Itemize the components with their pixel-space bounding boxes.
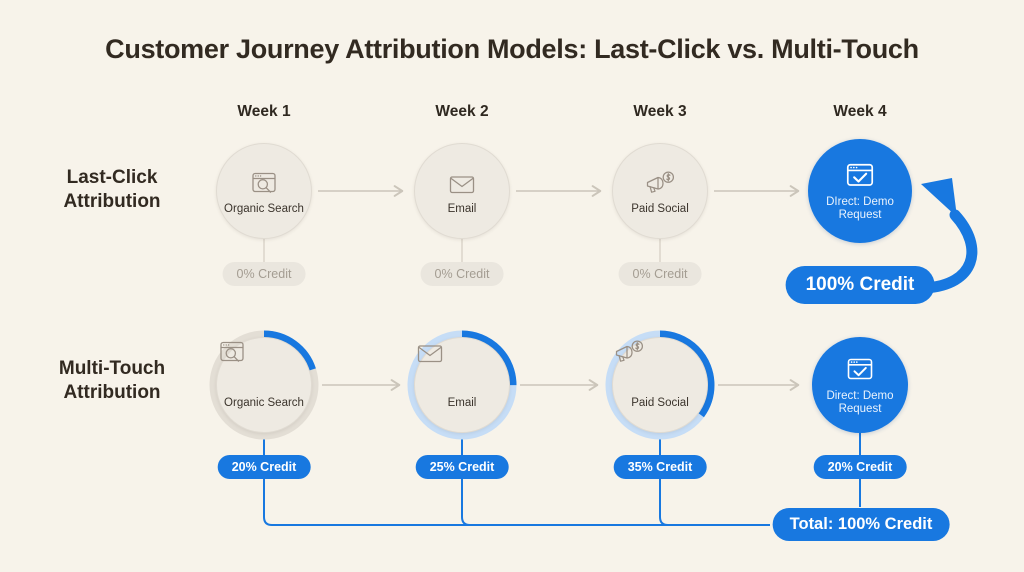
ring-multi-touch-email: Email — [407, 330, 517, 440]
ring-multi-touch-organic-search: Organic Search — [209, 330, 319, 440]
browser-check-icon — [843, 160, 877, 194]
browser-check-icon — [844, 354, 876, 388]
node-multi-touch-organic-search[interactable]: Organic Search — [216, 337, 312, 433]
credit-pill-multi-touch-week1: 20% Credit — [218, 455, 311, 479]
credit-pill-last-click-week3: 0% Credit — [619, 262, 702, 286]
node-last-click-paid-social[interactable]: Paid Social — [612, 143, 708, 239]
node-last-click-email[interactable]: Email — [414, 143, 510, 239]
node-label: DIrect: Demo Request — [826, 196, 894, 222]
node-label-line2: Request — [839, 209, 882, 221]
browser-search-icon — [249, 167, 279, 201]
ring-multi-touch-paid-social: Paid Social — [605, 330, 715, 440]
total-aggregation-lines — [264, 478, 860, 525]
node-last-click-direct-demo-request[interactable]: DIrect: Demo Request — [808, 139, 912, 243]
node-label: Email — [448, 397, 477, 410]
node-multi-touch-email[interactable]: Email — [414, 337, 510, 433]
envelope-icon — [447, 167, 477, 201]
node-label: Paid Social — [631, 203, 689, 216]
node-label: Direct: Demo Request — [826, 390, 893, 416]
node-label: Organic Search — [224, 203, 304, 216]
node-label: Email — [448, 203, 477, 216]
credit-pill-last-click-week1: 0% Credit — [223, 262, 306, 286]
node-label-line1: Direct: Demo — [826, 390, 893, 402]
credit-pill-multi-touch-week2: 25% Credit — [416, 455, 509, 479]
node-multi-touch-paid-social[interactable]: Paid Social — [612, 337, 708, 433]
credit-pill-multi-touch-week3: 35% Credit — [614, 455, 707, 479]
node-label: Organic Search — [224, 397, 304, 410]
node-last-click-organic-search[interactable]: Organic Search — [216, 143, 312, 239]
row2-credit-stems — [264, 433, 860, 456]
infographic-canvas: Customer Journey Attribution Models: Las… — [0, 0, 1024, 572]
credit-pill-last-click-week2: 0% Credit — [421, 262, 504, 286]
node-label: Paid Social — [631, 397, 689, 410]
credit-pill-last-click-week4: 100% Credit — [786, 266, 935, 304]
credit-pill-multi-touch-week4: 20% Credit — [814, 455, 907, 479]
node-label-line2: Request — [839, 403, 882, 415]
row1-credit-stems — [264, 239, 660, 262]
total-credit-pill: Total: 100% Credit — [773, 508, 950, 541]
megaphone-dollar-icon — [644, 167, 676, 201]
node-multi-touch-direct-demo-request[interactable]: Direct: Demo Request — [812, 337, 908, 433]
node-label-line1: DIrect: Demo — [826, 196, 894, 208]
